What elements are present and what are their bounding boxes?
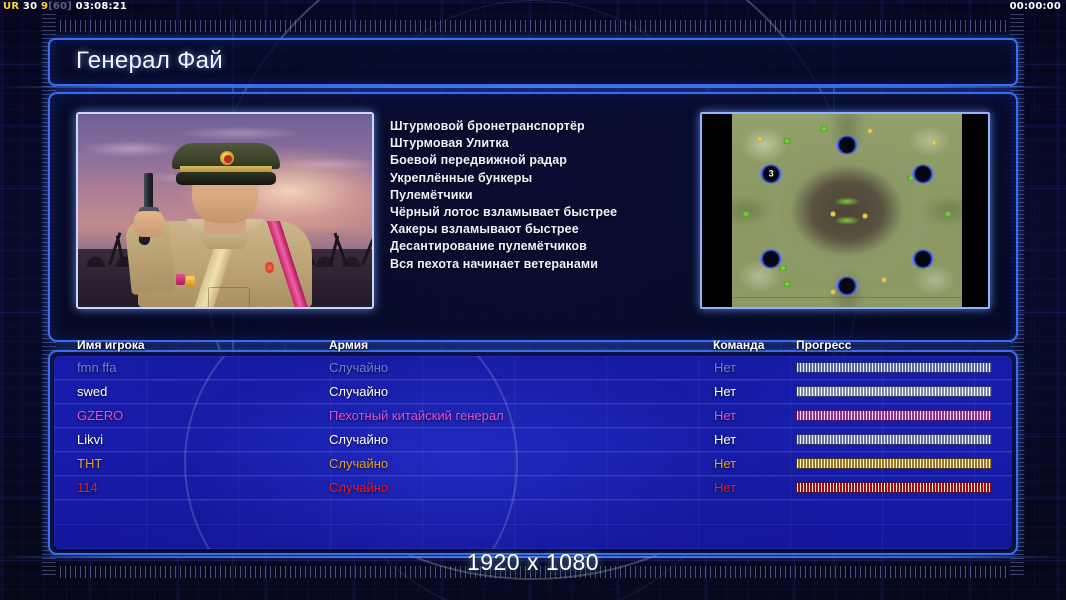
stat-label: UR bbox=[3, 1, 19, 12]
stat-clock: 03:08:21 bbox=[76, 1, 127, 12]
player-army: Случайно bbox=[329, 356, 388, 380]
player-name: fmn ffa bbox=[77, 356, 117, 380]
table-row[interactable]: 114СлучайноНет bbox=[54, 476, 1012, 500]
column-header-army: Армия bbox=[329, 338, 368, 352]
minimap-preview[interactable]: 3 bbox=[700, 112, 990, 309]
resolution-label: 1920 x 1080 bbox=[0, 549, 1066, 576]
minimap-spawn-point[interactable]: 3 bbox=[760, 164, 782, 183]
ruler-strip-top bbox=[60, 20, 1006, 32]
player-name: THT bbox=[77, 452, 102, 476]
cap-emblem-icon bbox=[220, 151, 234, 165]
player-team: Нет bbox=[714, 404, 736, 428]
player-progress-fill bbox=[797, 363, 991, 372]
player-name: 114 bbox=[77, 476, 98, 500]
minimap-spawn-point[interactable] bbox=[836, 276, 858, 295]
player-team: Нет bbox=[714, 452, 736, 476]
player-team: Нет bbox=[714, 356, 736, 380]
ability-item: Боевой передвижной радар bbox=[390, 152, 706, 169]
general-figure bbox=[130, 157, 320, 307]
player-team: Нет bbox=[714, 380, 736, 404]
player-army: Случайно bbox=[329, 476, 388, 500]
player-army: Случайно bbox=[329, 452, 388, 476]
top-status-bar: UR 30 9[60] 03:08:21 00:00:00 bbox=[0, 0, 1066, 14]
ability-item: Чёрный лотос взламывает быстрее bbox=[390, 204, 706, 221]
player-name: GZERO bbox=[77, 404, 123, 428]
player-progress-bar bbox=[796, 410, 992, 421]
ability-item: Вся пехота начинает ветеранами bbox=[390, 256, 706, 273]
player-team: Нет bbox=[714, 476, 736, 500]
table-row[interactable]: THTСлучайноНет bbox=[54, 452, 1012, 476]
abilities-list: Штурмовой бронетранспортёрШтурмовая Улит… bbox=[390, 118, 706, 273]
minimap-boundary-line bbox=[732, 297, 962, 298]
player-progress-fill bbox=[797, 435, 991, 444]
player-army: Случайно bbox=[329, 380, 388, 404]
player-name: Likvi bbox=[77, 428, 103, 452]
stat-value-1: 30 bbox=[23, 1, 37, 12]
minimap-spawn-point[interactable] bbox=[912, 249, 934, 268]
ability-item: Пулемётчики bbox=[390, 187, 706, 204]
player-progress-bar bbox=[796, 362, 992, 373]
player-progress-fill bbox=[797, 483, 991, 492]
minimap-spawn-label: 3 bbox=[769, 169, 774, 178]
game-stats: UR 30 9[60] 03:08:21 bbox=[3, 0, 127, 14]
column-header-name: Имя игрока bbox=[77, 338, 145, 352]
table-row[interactable]: fmn ffaСлучайноНет bbox=[54, 356, 1012, 380]
table-row[interactable]: LikviСлучайноНет bbox=[54, 428, 1012, 452]
minimap-spawn-point[interactable] bbox=[836, 135, 858, 154]
player-team: Нет bbox=[714, 428, 736, 452]
minimap-terrain: 3 bbox=[732, 114, 962, 307]
players-table-header: Имя игрока Армия Команда Прогресс bbox=[48, 338, 1018, 354]
ability-item: Укреплённые бункеры bbox=[390, 170, 706, 187]
background-horizontal-line-top bbox=[0, 86, 1066, 88]
ability-item: Штурмовой бронетранспортёр bbox=[390, 118, 706, 135]
player-progress-bar bbox=[796, 386, 992, 397]
page-title: Генерал Фай bbox=[76, 47, 223, 75]
player-progress-fill bbox=[797, 411, 991, 420]
player-army: Случайно bbox=[329, 428, 388, 452]
player-name: swed bbox=[77, 380, 107, 404]
general-info-panel: Штурмовой бронетранспортёрШтурмовая Улит… bbox=[48, 92, 1018, 342]
ability-item: Хакеры взламывают быстрее bbox=[390, 221, 706, 238]
player-army: Пехотный китайский генерал bbox=[329, 404, 504, 428]
stat-bracket: [60] bbox=[48, 1, 72, 12]
player-progress-bar bbox=[796, 458, 992, 469]
player-progress-fill bbox=[797, 387, 991, 396]
ability-item: Десантирование пулемётчиков bbox=[390, 238, 706, 255]
minimap-center-resources bbox=[825, 194, 869, 228]
table-row[interactable]: GZEROПехотный китайский генералНет bbox=[54, 404, 1012, 428]
player-progress-bar bbox=[796, 434, 992, 445]
table-row[interactable]: swedСлучайноНет bbox=[54, 380, 1012, 404]
general-portrait bbox=[76, 112, 374, 309]
column-header-progress: Прогресс bbox=[796, 338, 851, 352]
match-timer: 00:00:00 bbox=[1010, 0, 1061, 14]
player-progress-bar bbox=[796, 482, 992, 493]
column-header-team: Команда bbox=[713, 338, 764, 352]
player-progress-fill bbox=[797, 459, 991, 468]
ability-item: Штурмовая Улитка bbox=[390, 135, 706, 152]
minimap-spawn-point[interactable] bbox=[760, 249, 782, 268]
players-table-body: fmn ffaСлучайноНетswedСлучайноНетGZEROПе… bbox=[54, 356, 1012, 549]
minimap-spawn-point[interactable] bbox=[912, 164, 934, 183]
title-panel: Генерал Фай bbox=[48, 38, 1018, 86]
